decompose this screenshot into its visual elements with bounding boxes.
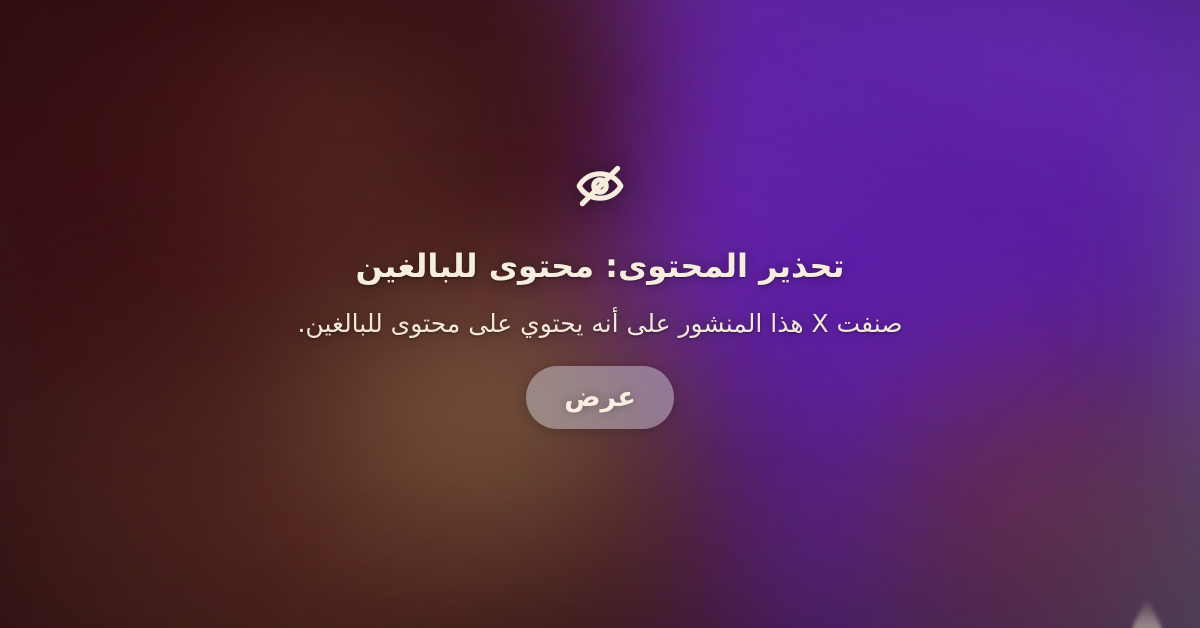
content-warning-overlay: تحذير المحتوى: محتوى للبالغين صنفت X هذا…: [0, 0, 1200, 628]
eye-off-icon: [572, 158, 628, 214]
view-content-button[interactable]: عرض: [526, 366, 674, 429]
content-warning-title: تحذير المحتوى: محتوى للبالغين: [355, 248, 844, 286]
content-warning-description: صنفت X هذا المنشور على أنه يحتوي على محت…: [297, 308, 902, 341]
